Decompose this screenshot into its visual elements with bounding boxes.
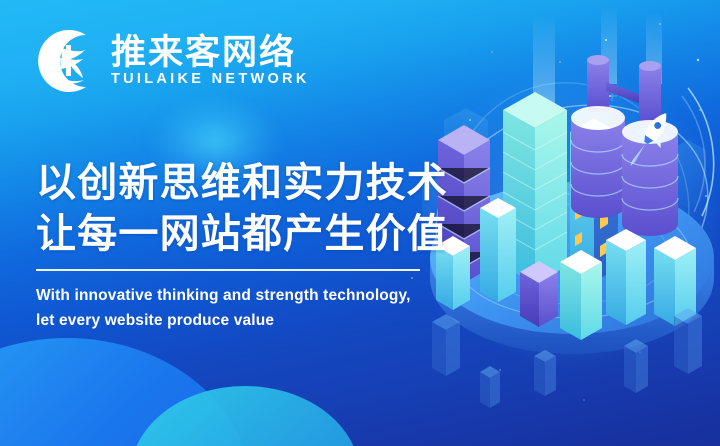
subtitle-line-2: let every website produce value (36, 308, 446, 333)
logo-company-en: TUILAIKE NETWORK (111, 72, 310, 88)
building-front-cyan-1 (480, 198, 516, 302)
building-front-mint-mid (560, 250, 602, 340)
logo-company-cn: 推来客网络 (111, 34, 310, 72)
building-front-cyan-2 (606, 229, 646, 325)
subtitle-line-1: With innovative thinking and strength te… (36, 283, 446, 308)
hero-banner: 推来客网络 TUILAIKE NETWORK 以创新思维和实力技术 让每一网站都… (0, 0, 720, 446)
crescent-k-emblem-icon (36, 28, 102, 94)
headline-line-1: 以创新思维和实力技术 (36, 158, 448, 209)
logo-text-block: 推来客网络 TUILAIKE NETWORK (111, 34, 310, 89)
headline-divider (36, 269, 420, 271)
hero-subtitle: With innovative thinking and strength te… (36, 283, 446, 333)
headline-line-2: 让每一网站都产生价值 (36, 209, 448, 260)
site-logo[interactable]: 推来客网络 TUILAIKE NETWORK (36, 28, 310, 94)
hero-headline: 以创新思维和实力技术 让每一网站都产生价值 (36, 158, 448, 260)
building-front-purple-small (520, 261, 558, 327)
isometric-city-illustration (420, 0, 720, 446)
